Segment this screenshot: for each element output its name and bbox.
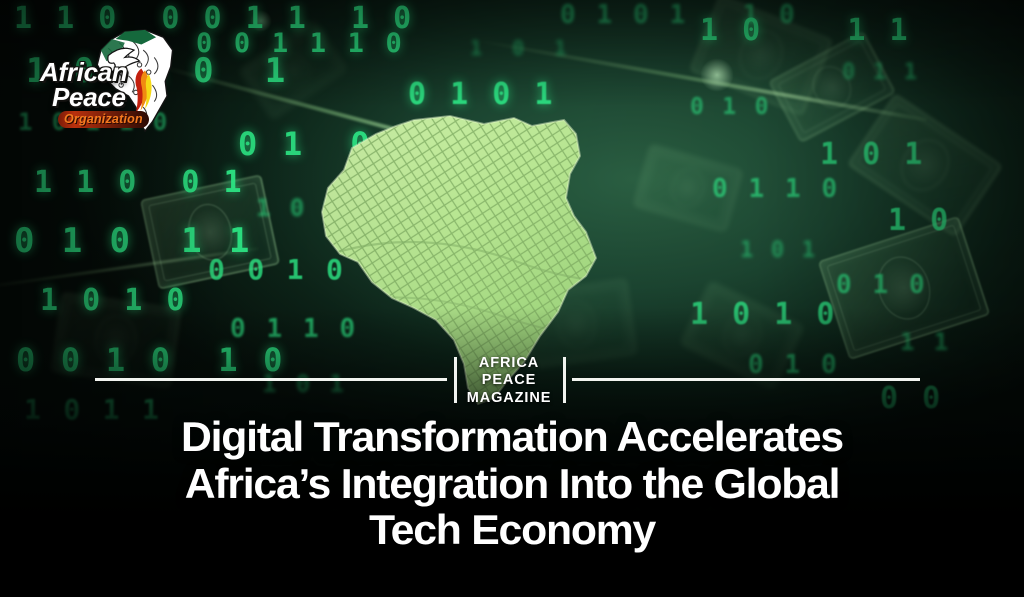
magazine-badge: AFRICA PEACE MAGAZINE — [463, 355, 555, 407]
badge-line-magazine: MAGAZINE — [463, 390, 555, 407]
headline-line-2: Africa’s Integration Into the Global — [46, 461, 977, 508]
badge-line-africa: AFRICA — [463, 355, 555, 372]
headline-line-3: Tech Economy — [46, 507, 977, 554]
logo-line-peace: Peace — [52, 85, 152, 110]
divider-tick-left — [454, 357, 457, 403]
african-peace-organization-logo[interactable]: African Peace Organization — [34, 26, 186, 138]
logo-line-organization: Organization — [58, 111, 149, 128]
magazine-badge-row: AFRICA PEACE MAGAZINE — [0, 355, 1024, 407]
divider-tick-right — [563, 357, 566, 403]
magazine-cover-poster: 1 1 0 0 0 1 1 1 00 1 0 1 1 01 0 1 10 0 1… — [0, 0, 1024, 597]
logo-wordmark: African Peace Organization — [40, 60, 152, 128]
headline-line-1: Digital Transformation Accelerates — [46, 414, 977, 461]
badge-line-peace: PEACE — [463, 372, 555, 389]
divider-rule-left — [95, 378, 447, 381]
divider-rule-right — [572, 378, 920, 381]
page-title: Digital Transformation Accelerates Afric… — [0, 414, 1024, 554]
